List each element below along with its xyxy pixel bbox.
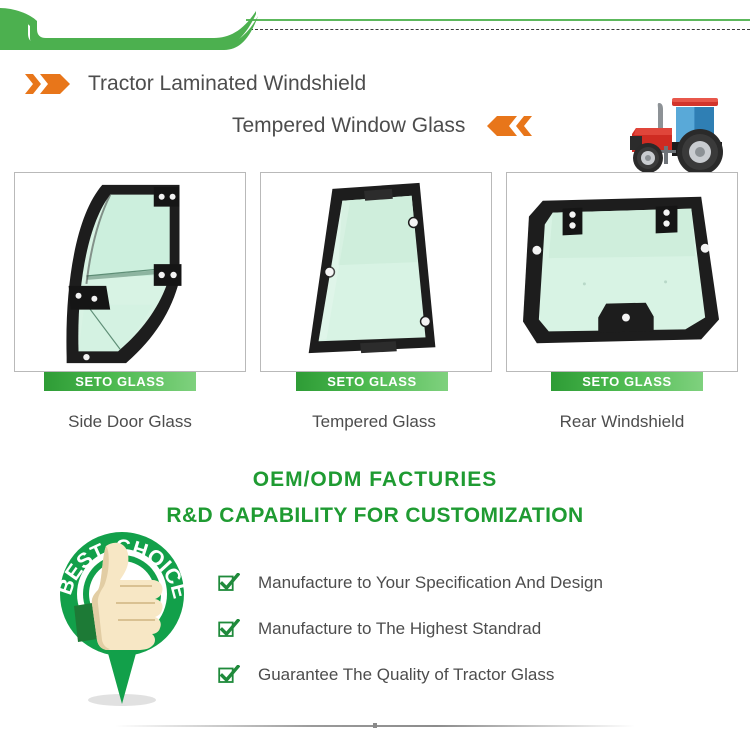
headline-block: Tractor Laminated Windshield Tempered Wi…	[0, 62, 750, 158]
headline-line-2: Tempered Window Glass	[232, 114, 533, 138]
headline-line-1: Tractor Laminated Windshield	[24, 72, 366, 96]
double-chevron-left-icon	[481, 114, 533, 138]
tractor-icon	[626, 90, 744, 176]
seto-glass-badge: SETO GLASS	[296, 372, 448, 391]
feature-bullet-list: Manufacture to Your Specification And De…	[218, 560, 738, 698]
tempered-glass-image	[261, 173, 491, 371]
banner-dashed-rule	[250, 29, 750, 30]
banner-title: Product Details	[44, 17, 188, 39]
product-card[interactable]	[260, 172, 492, 372]
check-box-icon	[218, 665, 240, 685]
feature-bullet-text: Manufacture to The Highest Standrad	[258, 619, 541, 639]
feature-bullet-text: Manufacture to Your Specification And De…	[258, 573, 603, 593]
rear-windshield-image	[507, 173, 737, 371]
product-caption: Rear Windshield	[502, 412, 742, 432]
product-caption-row: Side Door Glass Tempered Glass Rear Wind…	[0, 412, 750, 442]
double-chevron-right-icon	[24, 72, 74, 96]
rnd-capability-heading: R&D CAPABILITY FOR CUSTOMIZATION	[0, 504, 750, 528]
product-caption: Tempered Glass	[254, 412, 494, 432]
check-box-icon	[218, 619, 240, 639]
headline-text-2: Tempered Window Glass	[232, 114, 465, 138]
best-choice-badge: BEST CHOICE	[44, 528, 212, 706]
product-card-row: SETO GLASS SETO GLASS	[0, 172, 750, 394]
banner-top-rule	[246, 19, 750, 21]
product-card[interactable]	[14, 172, 246, 372]
check-box-icon	[218, 573, 240, 593]
side-door-glass-image	[15, 173, 245, 371]
seto-glass-badge: SETO GLASS	[551, 372, 703, 391]
product-card[interactable]	[506, 172, 738, 372]
product-details-banner: Product Details	[0, 8, 750, 50]
feature-bullet: Manufacture to The Highest Standrad	[218, 606, 738, 652]
headline-text-1: Tractor Laminated Windshield	[88, 72, 366, 96]
oem-odm-heading: OEM/ODM FACTURIES	[0, 468, 750, 492]
product-caption: Side Door Glass	[10, 412, 250, 432]
seto-glass-badge: SETO GLASS	[44, 372, 196, 391]
feature-bullet: Manufacture to Your Specification And De…	[218, 560, 738, 606]
feature-bullet: Guarantee The Quality of Tractor Glass	[218, 652, 738, 698]
footer-divider-dot	[373, 723, 377, 728]
feature-bullet-text: Guarantee The Quality of Tractor Glass	[258, 665, 554, 685]
